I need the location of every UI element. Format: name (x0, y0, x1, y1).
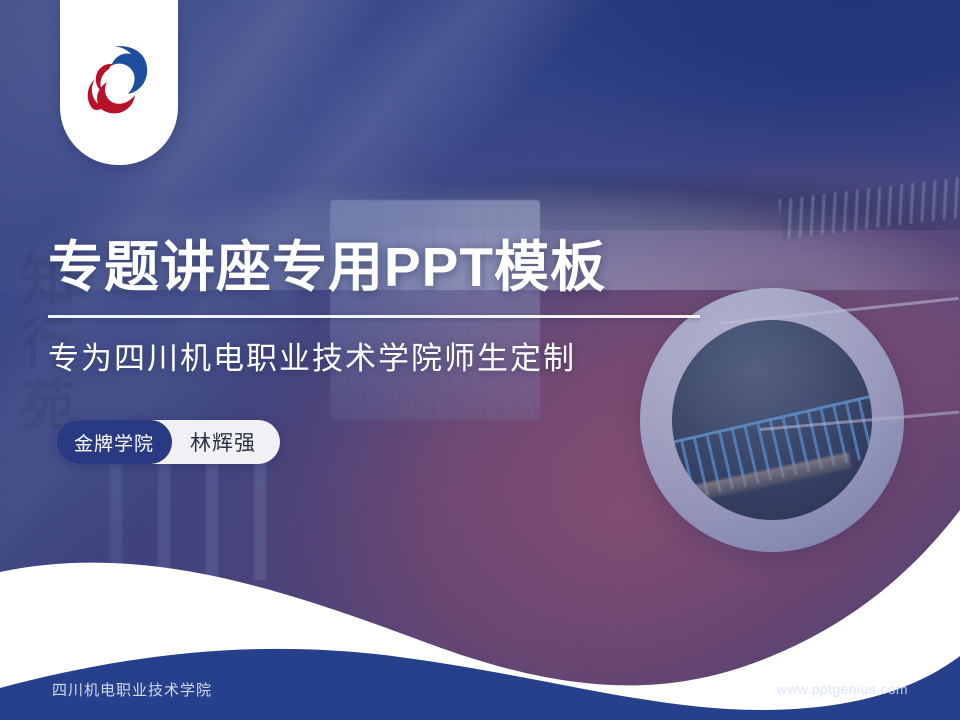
credit-pill: 金牌学院 林辉强 (56, 420, 280, 464)
footer-website[interactable]: www.pptgenius.com (777, 681, 908, 697)
headline-block: 专题讲座专用PPT模板 专为四川机电职业技术学院师生定制 (48, 238, 788, 378)
footer-organization: 四川机电职业技术学院 (52, 679, 212, 700)
background-truss (778, 173, 960, 240)
credit-author-name: 林辉强 (190, 427, 256, 457)
slide-subtitle: 专为四川机电职业技术学院师生定制 (48, 340, 788, 377)
college-logo-badge (60, 0, 178, 165)
ppt-cover-slide: 知 行 苑 专题讲座专用PPT模板 专为四川机电职业技术学院师生定制 金牌学院 … (0, 0, 960, 720)
slide-title: 专题讲座专用PPT模板 (48, 238, 788, 297)
college-emblem-icon (79, 39, 159, 127)
slide-footer: 四川机电职业技术学院 www.pptgenius.com (0, 658, 960, 720)
credit-tag-badge: 金牌学院 (56, 420, 172, 464)
title-divider-rule (48, 315, 700, 318)
background-roof-shadow (260, 120, 960, 230)
background-wall-stripe-lower (760, 411, 960, 431)
